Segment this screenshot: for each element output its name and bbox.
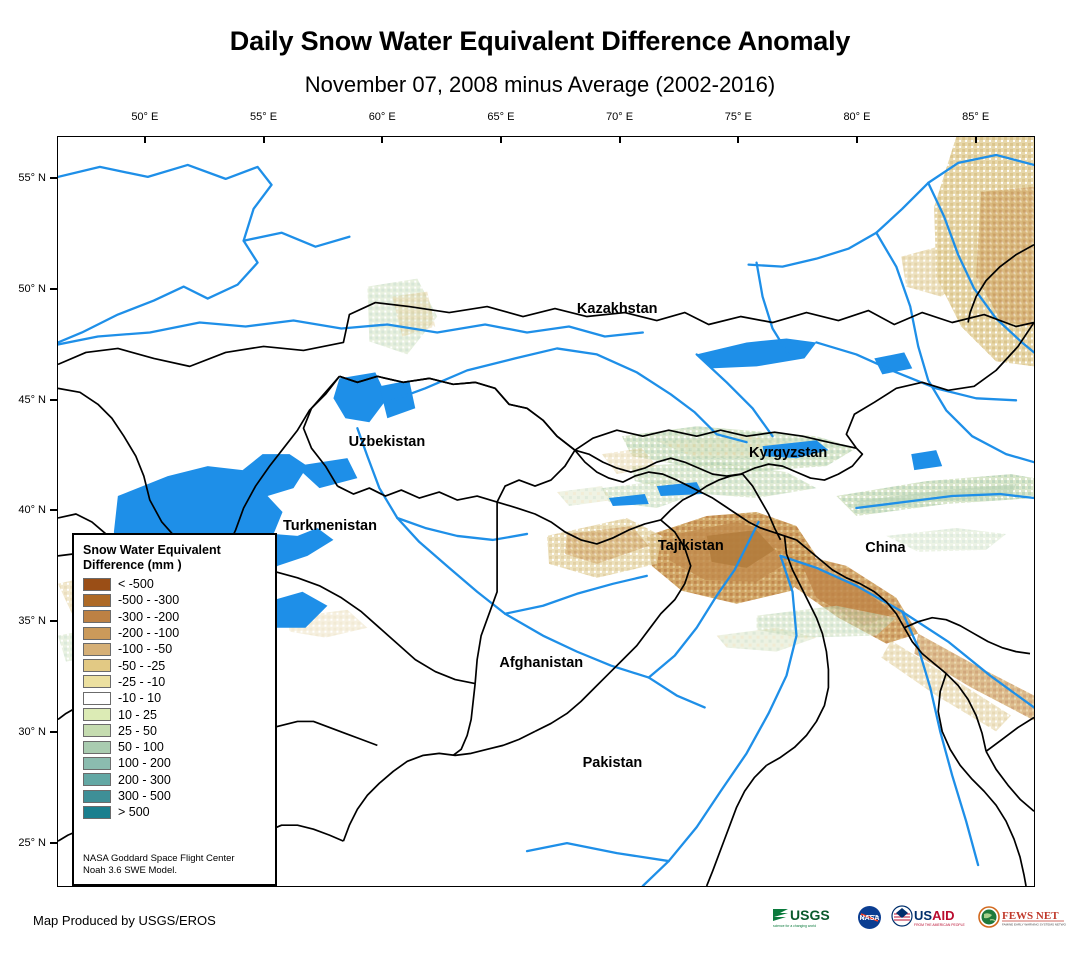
legend-entry-list: < -500-500 - -300-300 - -200-200 - -100-… xyxy=(83,576,275,820)
legend-entry[interactable]: > 500 xyxy=(83,804,275,820)
longitude-tick xyxy=(263,136,265,143)
legend-swatch xyxy=(83,578,111,591)
latitude-tick xyxy=(50,731,57,733)
map-credit: Map Produced by USGS/EROS xyxy=(33,913,216,928)
legend-entry[interactable]: 100 - 200 xyxy=(83,755,275,771)
latitude-label: 35° N xyxy=(14,615,46,627)
legend-label: -100 - -50 xyxy=(118,642,172,656)
longitude-tick xyxy=(737,136,739,143)
legend-label: 300 - 500 xyxy=(118,789,171,803)
fewsnet-logo[interactable]: FEWS NET FAMINE EARLY WARNING SYSTEMS NE… xyxy=(978,905,1066,930)
latitude-label: 40° N xyxy=(14,504,46,516)
legend-swatch xyxy=(83,708,111,721)
legend-entry[interactable]: -500 - -300 xyxy=(83,592,275,608)
legend-label: 100 - 200 xyxy=(118,756,171,770)
longitude-tick xyxy=(144,136,146,143)
legend-entry[interactable]: 25 - 50 xyxy=(83,723,275,739)
latitude-label: 45° N xyxy=(14,394,46,406)
page-subtitle: November 07, 2008 minus Average (2002-20… xyxy=(0,72,1080,98)
legend-label: 25 - 50 xyxy=(118,724,157,738)
longitude-tick xyxy=(381,136,383,143)
legend-panel[interactable]: Snow Water Equivalent Difference (mm ) <… xyxy=(72,533,277,886)
legend-label: -25 - -10 xyxy=(118,675,165,689)
svg-text:FEWS NET: FEWS NET xyxy=(1002,910,1059,922)
svg-text:FROM THE AMERICAN PEOPLE: FROM THE AMERICAN PEOPLE xyxy=(914,923,966,927)
longitude-tick xyxy=(619,136,621,143)
longitude-label: 55° E xyxy=(250,111,277,123)
svg-text:NASA: NASA xyxy=(860,915,880,922)
legend-entry[interactable]: -100 - -50 xyxy=(83,641,275,657)
legend-entry[interactable]: -300 - -200 xyxy=(83,609,275,625)
latitude-tick xyxy=(50,177,57,179)
longitude-label: 75° E xyxy=(725,111,752,123)
legend-swatch xyxy=(83,773,111,786)
legend-source-note: NASA Goddard Space Flight Center Noah 3.… xyxy=(83,853,235,876)
legend-swatch xyxy=(83,627,111,640)
longitude-label: 65° E xyxy=(487,111,514,123)
legend-entry[interactable]: 50 - 100 xyxy=(83,739,275,755)
longitude-label: 70° E xyxy=(606,111,633,123)
legend-swatch xyxy=(83,675,111,688)
logo-strip: USGS science for a changing world NASA U… xyxy=(772,903,1066,931)
legend-entry[interactable]: 200 - 300 xyxy=(83,772,275,788)
legend-title-line2: Difference (mm ) xyxy=(83,558,269,573)
nasa-logo[interactable]: NASA xyxy=(857,905,882,930)
legend-label: -10 - 10 xyxy=(118,691,161,705)
legend-swatch xyxy=(83,790,111,803)
legend-label: 10 - 25 xyxy=(118,708,157,722)
legend-swatch xyxy=(83,643,111,656)
longitude-label: 80° E xyxy=(843,111,870,123)
legend-label: -50 - -25 xyxy=(118,659,165,673)
svg-text:FAMINE EARLY WARNING SYSTEMS N: FAMINE EARLY WARNING SYSTEMS NETWORK xyxy=(1002,922,1066,926)
legend-entry[interactable]: -200 - -100 xyxy=(83,625,275,641)
legend-label: 50 - 100 xyxy=(118,740,164,754)
legend-label: 200 - 300 xyxy=(118,773,171,787)
latitude-label: 55° N xyxy=(14,172,46,184)
longitude-tick xyxy=(500,136,502,143)
longitude-label: 85° E xyxy=(962,111,989,123)
legend-label: -200 - -100 xyxy=(118,626,179,640)
latitude-tick xyxy=(50,509,57,511)
latitude-tick xyxy=(50,288,57,290)
legend-source-line1: NASA Goddard Space Flight Center xyxy=(83,853,235,865)
latitude-tick xyxy=(50,399,57,401)
latitude-tick xyxy=(50,842,57,844)
latitude-label: 50° N xyxy=(14,283,46,295)
legend-entry[interactable]: -25 - -10 xyxy=(83,674,275,690)
legend-swatch xyxy=(83,741,111,754)
longitude-label: 60° E xyxy=(369,111,396,123)
usaid-logo[interactable]: USAID FROM THE AMERICAN PEOPLE xyxy=(891,905,969,930)
latitude-tick xyxy=(50,620,57,622)
svg-text:USAID: USAID xyxy=(914,908,954,923)
legend-label: -500 - -300 xyxy=(118,593,179,607)
legend-swatch xyxy=(83,692,111,705)
legend-entry[interactable]: 10 - 25 xyxy=(83,706,275,722)
legend-swatch xyxy=(83,610,111,623)
legend-title-line1: Snow Water Equivalent xyxy=(83,543,269,558)
longitude-tick xyxy=(975,136,977,143)
legend-swatch xyxy=(83,594,111,607)
legend-label: > 500 xyxy=(118,805,150,819)
legend-label: < -500 xyxy=(118,577,154,591)
legend-entry[interactable]: -10 - 10 xyxy=(83,690,275,706)
longitude-label: 50° E xyxy=(131,111,158,123)
page-title: Daily Snow Water Equivalent Difference A… xyxy=(0,26,1080,57)
latitude-label: 25° N xyxy=(14,837,46,849)
svg-text:USGS: USGS xyxy=(790,907,830,923)
legend-source-line2: Noah 3.6 SWE Model. xyxy=(83,865,235,877)
legend-title: Snow Water Equivalent Difference (mm ) xyxy=(83,543,269,573)
legend-swatch xyxy=(83,806,111,819)
usgs-logo[interactable]: USGS science for a changing world xyxy=(772,905,848,930)
longitude-tick xyxy=(856,136,858,143)
legend-label: -300 - -200 xyxy=(118,610,179,624)
legend-swatch xyxy=(83,757,111,770)
latitude-label: 30° N xyxy=(14,726,46,738)
legend-swatch xyxy=(83,724,111,737)
legend-entry[interactable]: -50 - -25 xyxy=(83,657,275,673)
legend-entry[interactable]: 300 - 500 xyxy=(83,788,275,804)
svg-text:science for a changing world: science for a changing world xyxy=(773,924,816,928)
legend-swatch xyxy=(83,659,111,672)
legend-entry[interactable]: < -500 xyxy=(83,576,275,592)
